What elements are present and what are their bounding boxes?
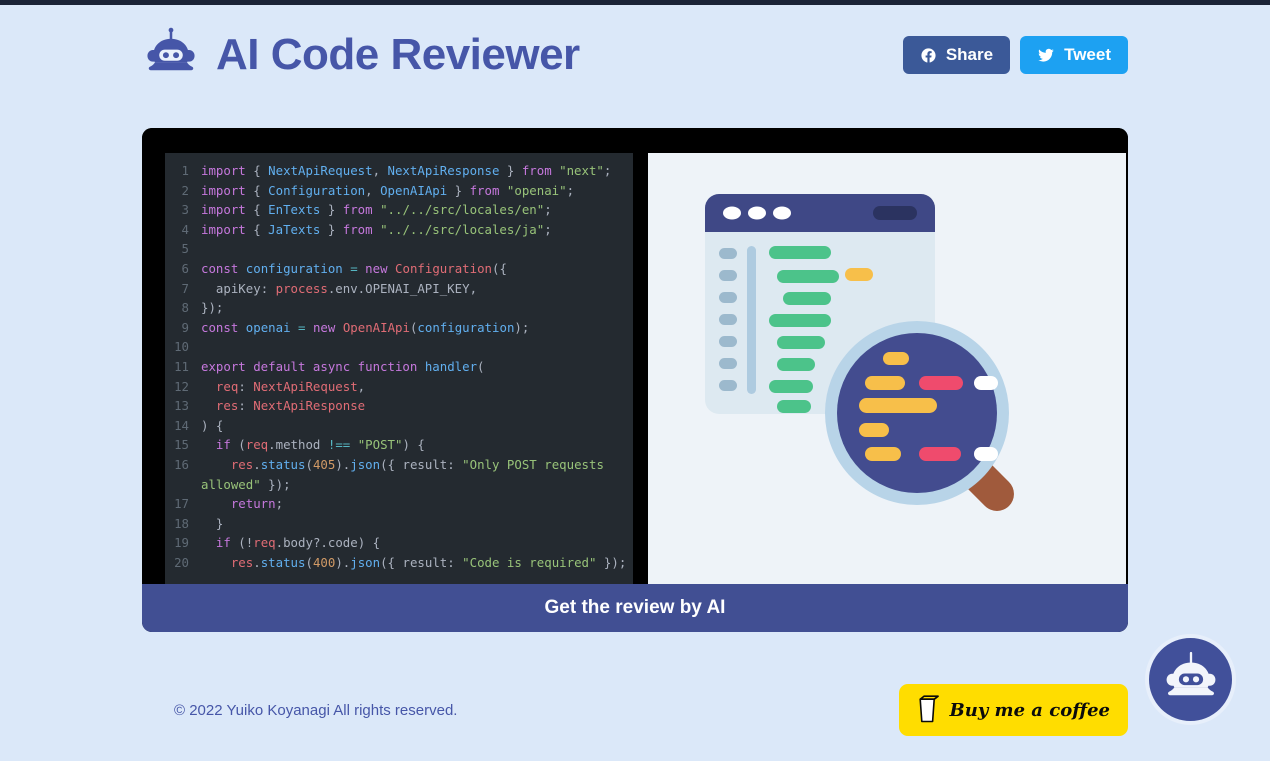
code-line-text: const configuration = new Configuration(…	[201, 259, 629, 279]
get-review-button[interactable]: Get the review by AI	[142, 584, 1128, 632]
tweet-button[interactable]: Tweet	[1020, 36, 1128, 74]
code-line-text: const openai = new OpenAIApi(configurati…	[201, 318, 629, 338]
code-line-text: req: NextApiRequest,	[201, 377, 629, 397]
code-line-text: res.status(405).json({ result: "Only POS…	[201, 455, 629, 494]
code-line: 3import { EnTexts } from "../../src/loca…	[165, 200, 633, 220]
code-line-text: if (!req.body?.code) {	[201, 533, 629, 553]
code-line: 19 if (!req.body?.code) {	[165, 533, 633, 553]
tweet-button-label: Tweet	[1064, 45, 1111, 65]
line-number: 9	[165, 318, 201, 338]
copyright-text: © 2022 Yuiko Koyanagi All rights reserve…	[142, 702, 457, 719]
coffee-button-label: Buy me a coffee	[950, 700, 1110, 721]
line-number: 1	[165, 161, 201, 181]
code-line: 4import { JaTexts } from "../../src/loca…	[165, 220, 633, 240]
line-number: 8	[165, 298, 201, 318]
facebook-icon	[920, 47, 937, 64]
top-accent-strip	[0, 0, 1270, 5]
line-number: 16	[165, 455, 201, 475]
line-number: 7	[165, 279, 201, 299]
line-number: 18	[165, 514, 201, 534]
share-button-label: Share	[946, 45, 993, 65]
line-number: 13	[165, 396, 201, 416]
code-line-text: if (req.method !== "POST") {	[201, 435, 629, 455]
page-title: AI Code Reviewer	[216, 33, 580, 77]
code-line: 2import { Configuration, OpenAIApi } fro…	[165, 181, 633, 201]
code-line-text: apiKey: process.env.OPENAI_API_KEY,	[201, 279, 629, 299]
code-line-text: res: NextApiResponse	[201, 396, 629, 416]
line-number: 5	[165, 239, 201, 259]
robot-icon	[142, 26, 200, 84]
line-number: 17	[165, 494, 201, 514]
code-line-text: import { EnTexts } from "../../src/local…	[201, 200, 629, 220]
code-line: 10	[165, 337, 633, 357]
code-line-text: });	[201, 298, 629, 318]
brand: AI Code Reviewer	[142, 26, 580, 84]
code-line: 14) {	[165, 416, 633, 436]
code-line: 5	[165, 239, 633, 259]
line-number: 6	[165, 259, 201, 279]
line-number: 20	[165, 553, 201, 573]
code-line: 6const configuration = new Configuration…	[165, 259, 633, 279]
code-line-text: export default async function handler(	[201, 357, 629, 377]
code-line: 18 }	[165, 514, 633, 534]
code-line-text: import { NextApiRequest, NextApiResponse…	[201, 161, 629, 181]
panel-body: 1import { NextApiRequest, NextApiRespons…	[142, 128, 1128, 584]
coffee-cup-icon	[917, 694, 941, 727]
code-line-text: }	[201, 514, 629, 534]
app-panel: 1import { NextApiRequest, NextApiRespons…	[142, 128, 1128, 632]
line-number: 15	[165, 435, 201, 455]
illustration-pane	[648, 153, 1126, 584]
code-lines[interactable]: 1import { NextApiRequest, NextApiRespons…	[165, 153, 633, 572]
code-line-text: import { JaTexts } from "../../src/local…	[201, 220, 629, 240]
line-number: 19	[165, 533, 201, 553]
line-number: 4	[165, 220, 201, 240]
chat-robot-button[interactable]	[1145, 634, 1236, 725]
page-header: AI Code Reviewer Share Tweet	[142, 22, 1128, 88]
buy-me-a-coffee-button[interactable]: Buy me a coffee	[899, 684, 1128, 736]
code-line: 8});	[165, 298, 633, 318]
line-number: 2	[165, 181, 201, 201]
code-line: 16 res.status(405).json({ result: "Only …	[165, 455, 633, 494]
line-number: 11	[165, 357, 201, 377]
code-line: 7 apiKey: process.env.OPENAI_API_KEY,	[165, 279, 633, 299]
code-line-text: import { Configuration, OpenAIApi } from…	[201, 181, 629, 201]
code-line: 12 req: NextApiRequest,	[165, 377, 633, 397]
code-line-text: ) {	[201, 416, 629, 436]
code-line-text: res.status(400).json({ result: "Code is …	[201, 553, 629, 573]
share-button[interactable]: Share	[903, 36, 1010, 74]
robot-icon	[1160, 646, 1222, 713]
page-footer: © 2022 Yuiko Koyanagi All rights reserve…	[142, 680, 1128, 740]
line-number: 12	[165, 377, 201, 397]
twitter-icon	[1037, 47, 1055, 64]
code-review-magnifier-illustration	[677, 174, 1097, 564]
line-number: 3	[165, 200, 201, 220]
code-line: 15 if (req.method !== "POST") {	[165, 435, 633, 455]
code-line: 13 res: NextApiResponse	[165, 396, 633, 416]
line-number: 14	[165, 416, 201, 436]
code-line: 20 res.status(400).json({ result: "Code …	[165, 553, 633, 573]
code-line: 11export default async function handler(	[165, 357, 633, 377]
code-line: 17 return;	[165, 494, 633, 514]
code-line: 1import { NextApiRequest, NextApiRespons…	[165, 161, 633, 181]
social-share-buttons: Share Tweet	[903, 36, 1128, 74]
line-number: 10	[165, 337, 201, 357]
code-line-text: return;	[201, 494, 629, 514]
code-editor[interactable]: 1import { NextApiRequest, NextApiRespons…	[165, 153, 633, 584]
code-line: 9const openai = new OpenAIApi(configurat…	[165, 318, 633, 338]
